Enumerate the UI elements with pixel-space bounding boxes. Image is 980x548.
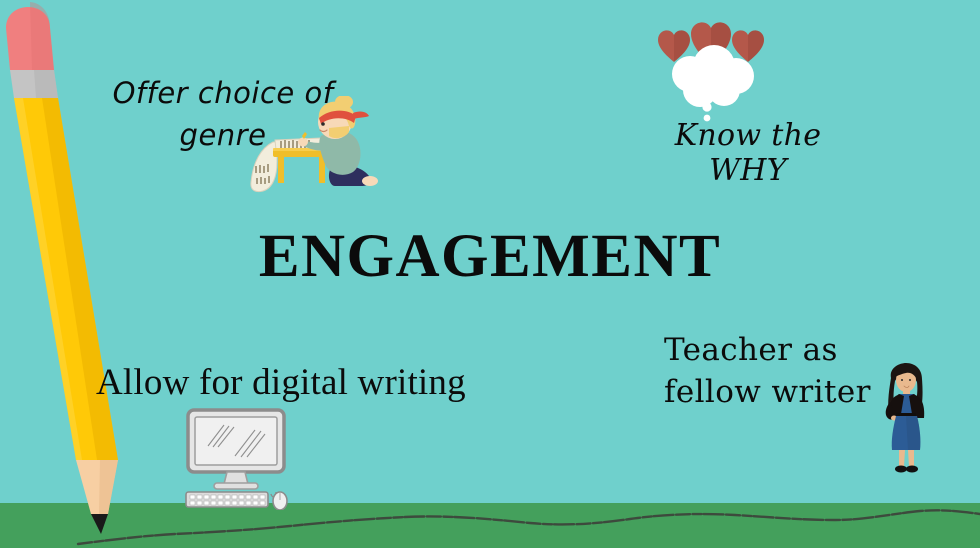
callout-teacher-as-fellow-writer: Teacher as fellow writer	[664, 330, 884, 414]
teacher-standing-icon	[873, 362, 937, 478]
desktop-computer-icon	[172, 406, 300, 510]
callout-know-the-why: Know the WHY	[634, 118, 862, 188]
slide-canvas: Offer choice of genre	[0, 0, 980, 548]
page-title: ENGAGEMENT	[0, 222, 980, 292]
hearts-thought-bubble-icon	[636, 12, 792, 122]
callout-allow-for-digital-writing: Allow for digital writing	[96, 361, 466, 404]
child-writing-at-table-icon	[243, 96, 393, 204]
ground-band	[0, 503, 980, 548]
